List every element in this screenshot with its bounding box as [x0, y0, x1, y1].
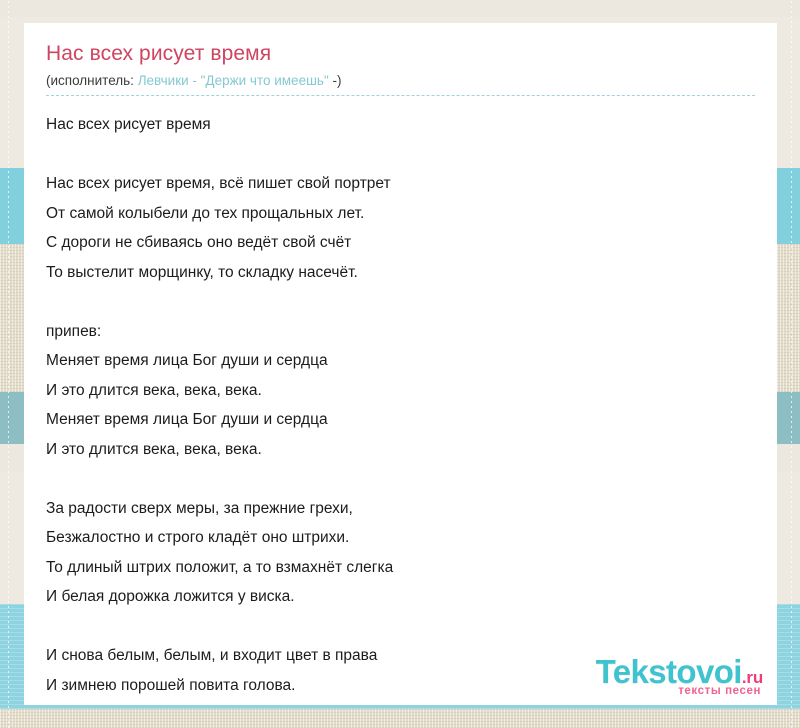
background-seam-left: [8, 0, 9, 728]
artist-link[interactable]: Левчики - "Держи что имеешь": [138, 73, 329, 88]
background-band-sand-bottom: [0, 709, 800, 728]
header-divider: [46, 95, 755, 96]
logo-wordmark: Tekstovoi.ru: [596, 655, 763, 689]
page-title: Нас всех рисует время: [46, 41, 755, 67]
card-content: Нас всех рисует время (исполнитель: Левч…: [24, 23, 777, 705]
site-logo[interactable]: Tekstovoi.ru тексты песен: [596, 655, 763, 697]
background-band-top-cream: [0, 0, 800, 17]
lyrics-text: Нас всех рисует время Нас всех рисует вр…: [46, 110, 755, 705]
artist-line: (исполнитель: Левчики - "Держи что имееш…: [46, 72, 755, 89]
artist-prefix-label: (исполнитель:: [46, 73, 138, 88]
background-seam-right: [791, 0, 792, 728]
lyrics-card: Нас всех рисует время (исполнитель: Левч…: [24, 23, 777, 705]
logo-word-text: Tekstovoi: [596, 655, 742, 689]
artist-suffix-label: -): [329, 73, 342, 88]
